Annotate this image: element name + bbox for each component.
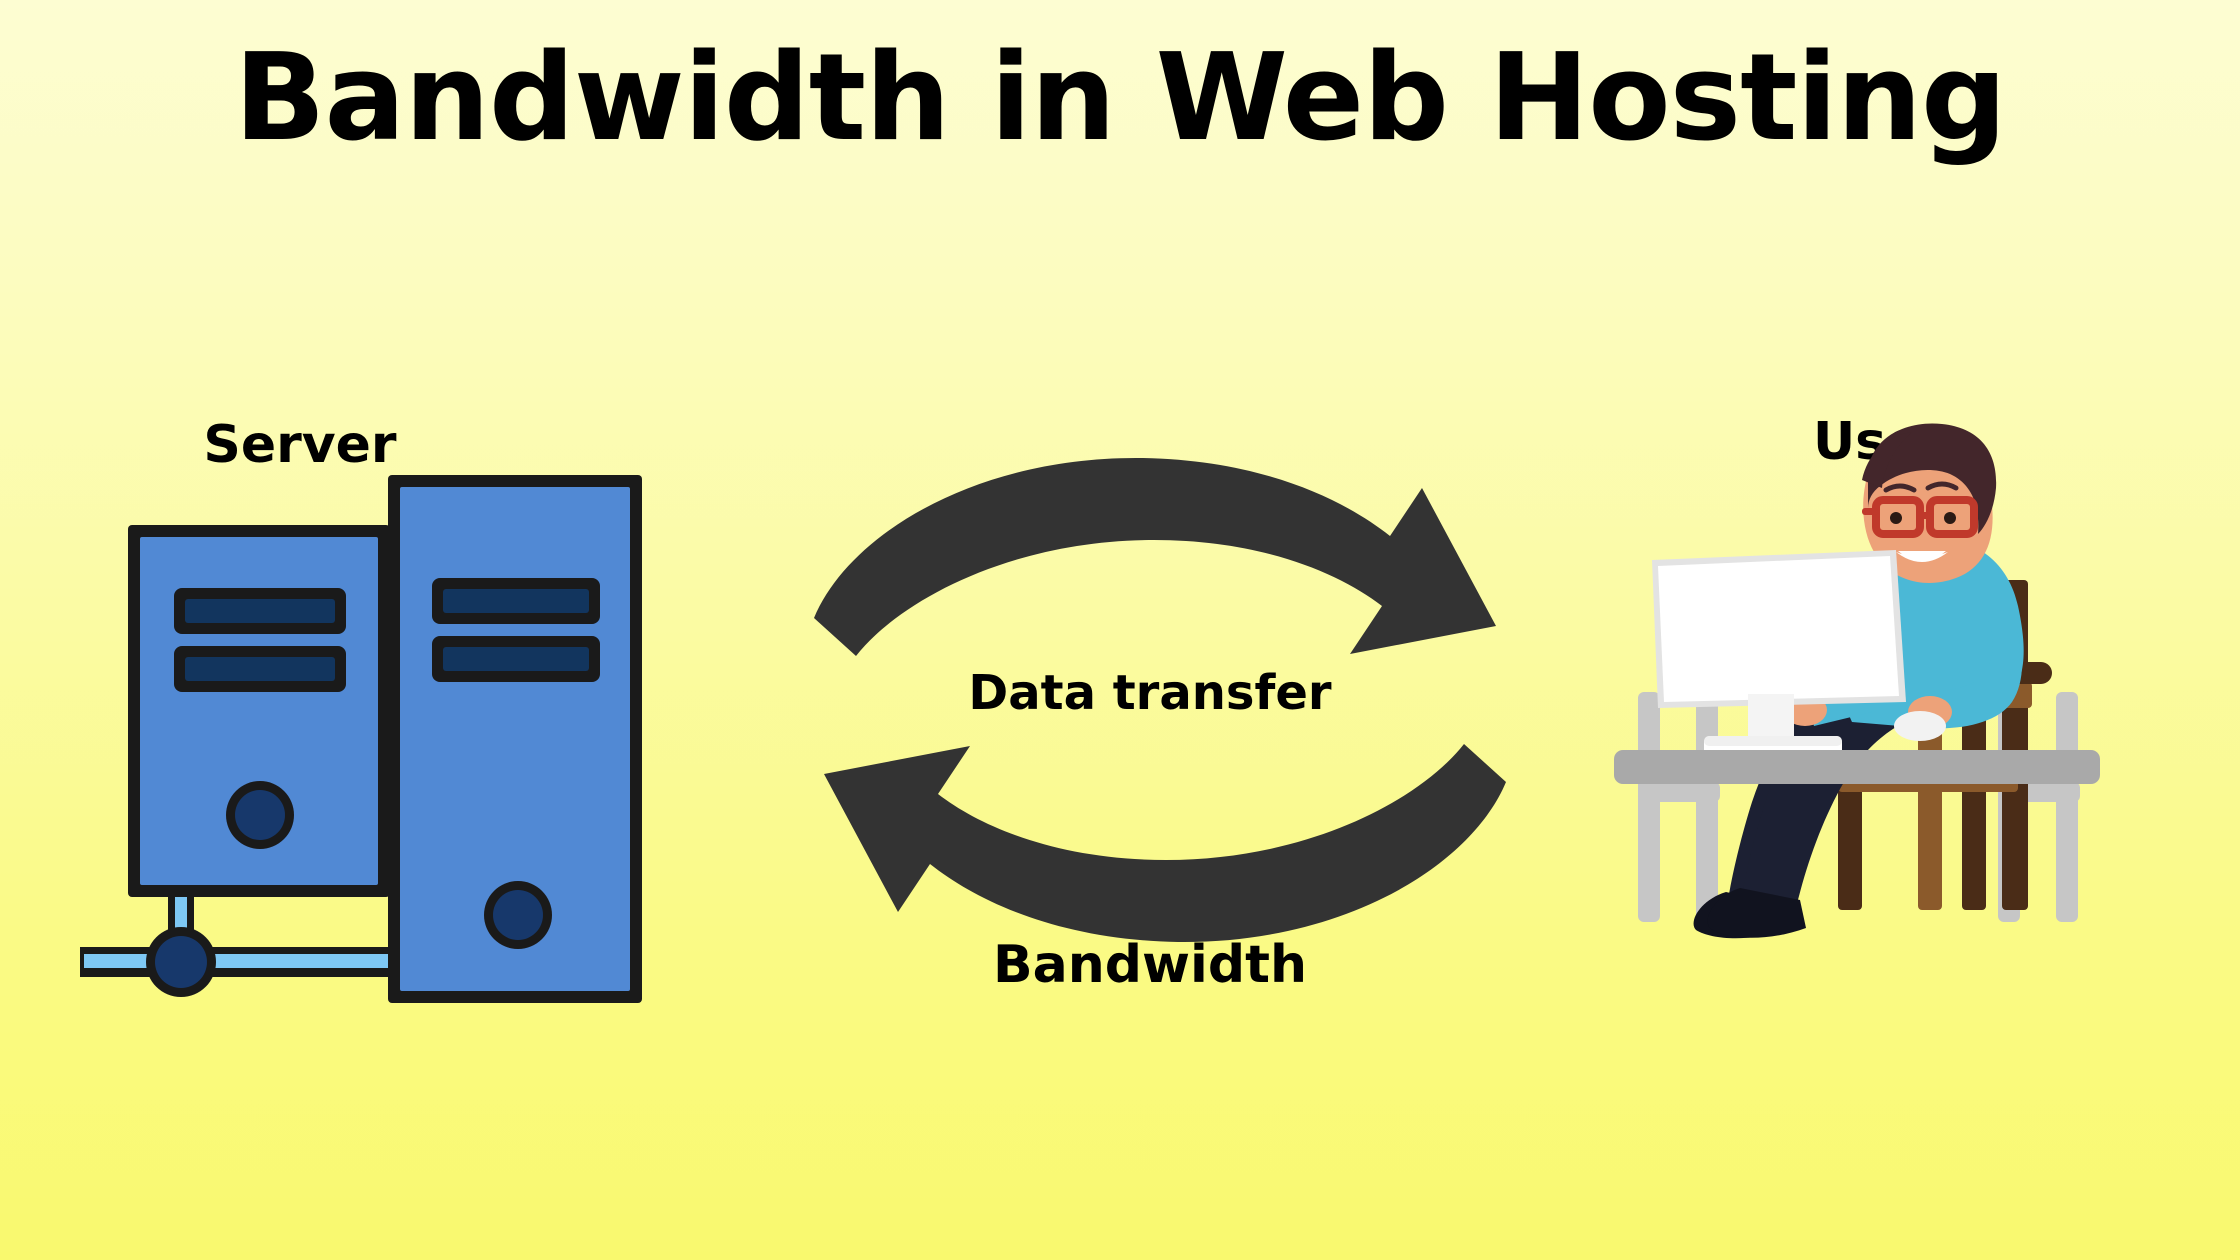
infographic-canvas: Bandwidth in Web Hosting Server <box>0 0 2240 1260</box>
data-transfer-label: Data transfer <box>790 665 1510 721</box>
bandwidth-label: Bandwidth <box>790 935 1510 995</box>
server-tower-front <box>128 525 390 897</box>
desk-top <box>1614 750 2100 784</box>
server-tower-back <box>388 475 642 1003</box>
server-illustration <box>80 460 680 1040</box>
eye-left <box>1890 512 1902 524</box>
mouse-icon <box>1894 711 1946 741</box>
arrow-right-icon <box>814 458 1496 656</box>
user-illustration <box>1600 430 2200 1010</box>
eye-right <box>1944 512 1956 524</box>
page-title: Bandwidth in Web Hosting <box>0 36 2240 162</box>
arrow-left-icon <box>824 744 1506 942</box>
